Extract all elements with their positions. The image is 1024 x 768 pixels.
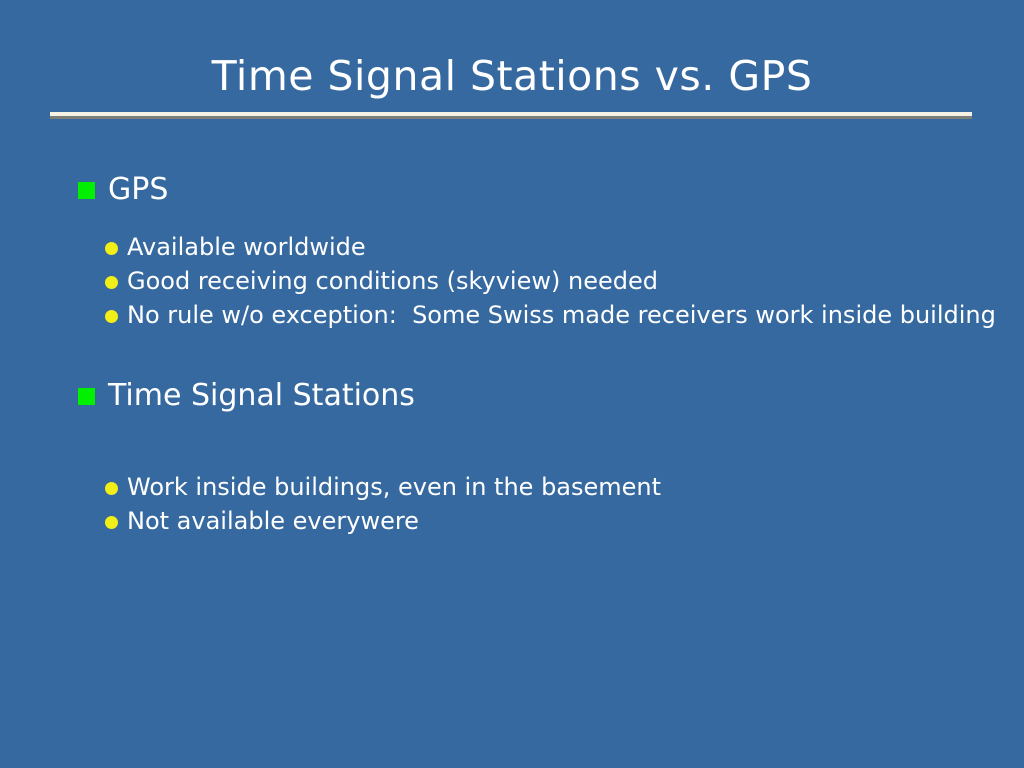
list-item: Good receiving conditions (skyview) need…	[0, 264, 1024, 298]
spacer	[0, 418, 1024, 470]
page-title: Time Signal Stations vs. GPS	[0, 52, 1024, 100]
dot-bullet-icon	[105, 310, 118, 323]
list-item-label: No rule w/o exception: Some Swiss made r…	[127, 301, 996, 329]
content-section-gps: GPS Available worldwide Good receiving c…	[0, 168, 1024, 332]
dot-bullet-icon	[105, 276, 118, 289]
section-heading-label: Time Signal Stations	[108, 378, 415, 413]
spacer	[0, 212, 1024, 230]
dot-bullet-icon	[105, 516, 118, 529]
section-heading-gps: GPS	[0, 168, 1024, 212]
spacer	[0, 332, 1024, 374]
title-block: Time Signal Stations vs. GPS	[0, 52, 1024, 100]
list-item: Available worldwide	[0, 230, 1024, 264]
list-item-label: Good receiving conditions (skyview) need…	[127, 267, 658, 295]
section-heading-label: GPS	[108, 172, 168, 207]
content-section-time-signal-stations: Time Signal Stations Work inside buildin…	[0, 374, 1024, 538]
presentation-slide: Time Signal Stations vs. GPS GPS Availab…	[0, 0, 1024, 768]
list-item: Work inside buildings, even in the basem…	[0, 470, 1024, 504]
list-item: No rule w/o exception: Some Swiss made r…	[0, 298, 1024, 332]
title-divider	[50, 112, 972, 119]
dot-bullet-icon	[105, 482, 118, 495]
square-bullet-icon	[78, 182, 95, 199]
list-item-label: Available worldwide	[127, 233, 366, 261]
list-item-label: Work inside buildings, even in the basem…	[127, 473, 661, 501]
slide-body: GPS Available worldwide Good receiving c…	[0, 168, 1024, 538]
section-heading-time-signal-stations: Time Signal Stations	[0, 374, 1024, 418]
dot-bullet-icon	[105, 242, 118, 255]
square-bullet-icon	[78, 388, 95, 405]
title-divider-shadow	[50, 116, 972, 119]
list-item-label: Not available everywere	[127, 507, 419, 535]
list-item: Not available everywere	[0, 504, 1024, 538]
